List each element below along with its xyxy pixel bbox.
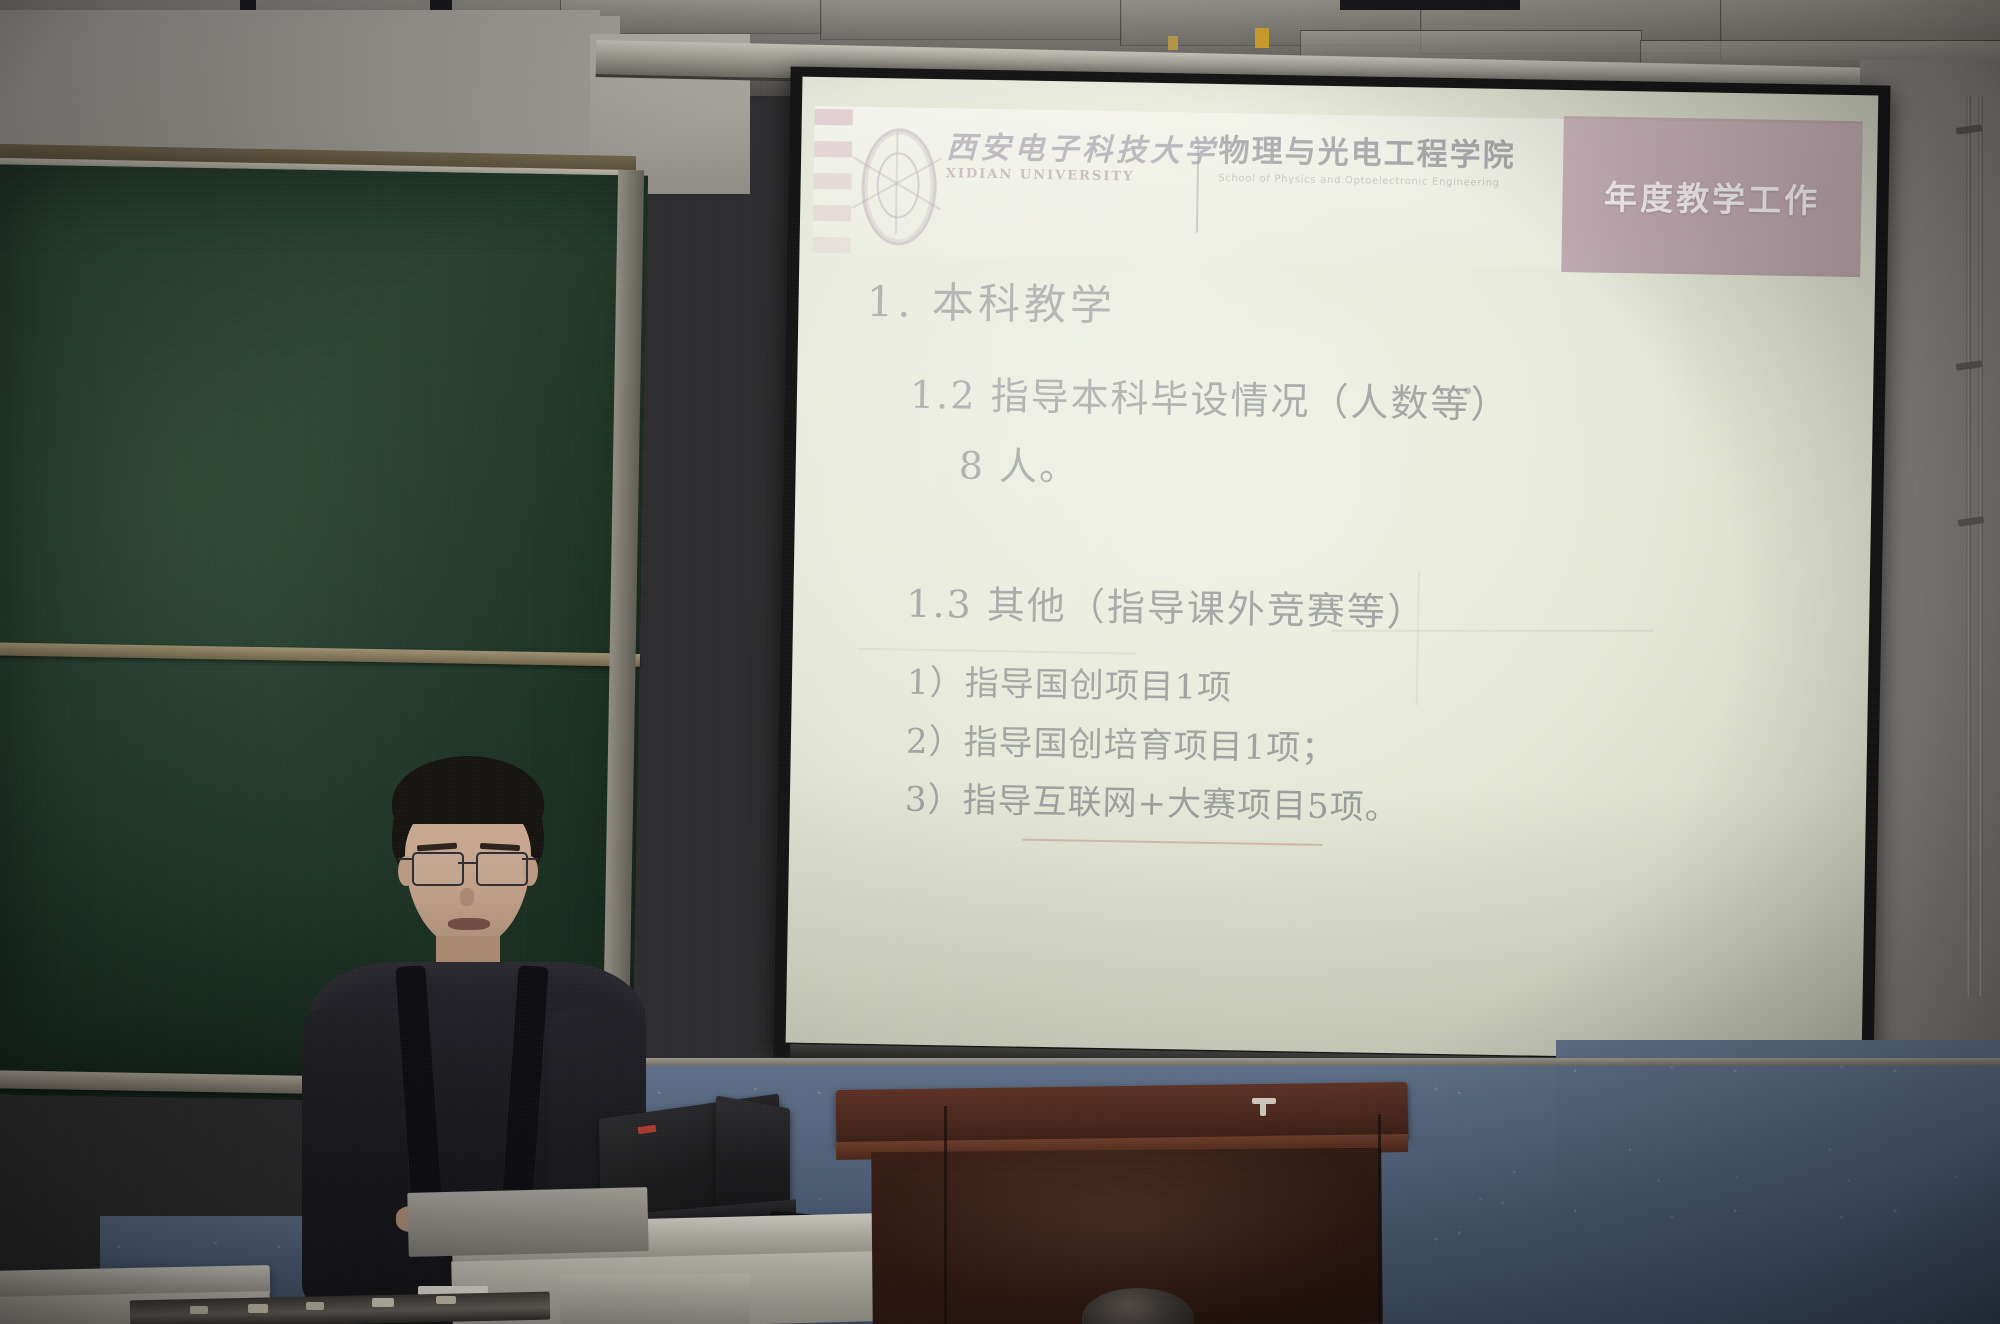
panel-port — [190, 1306, 208, 1314]
university-emblem-icon — [861, 128, 932, 240]
tick-mark — [813, 205, 851, 221]
wall-texture — [1556, 1040, 2000, 1324]
presenter-arm-left — [302, 1008, 398, 1308]
slide-list-item: 3）指导互联网+大赛项目5项。 — [905, 782, 1400, 828]
lectern-hardware — [1260, 1102, 1266, 1116]
blue-wainscot-wall-right — [1556, 1040, 2000, 1324]
panel-port — [306, 1302, 324, 1310]
slide-title-badge: 年度教学工作 — [1561, 116, 1862, 277]
college-name-cn: 物理与光电工程学院 — [1218, 135, 1575, 175]
presenter-hair-top — [392, 756, 544, 824]
wall-conduit-pipe — [1966, 96, 1971, 996]
slide-heading: 1. 本科教学 — [866, 278, 1116, 329]
screen-crease — [1331, 630, 1654, 632]
slide-header: 西安电子科技大学 XIDIAN UNIVERSITY 物理与光电工程学院 Sch… — [812, 106, 1862, 274]
av-equipment-riser — [407, 1187, 648, 1257]
slide-section-1-2: 1.2 指导本科毕设情况（人数等） — [910, 375, 1511, 427]
university-name-cn: 西安电子科技大学 — [946, 132, 1188, 168]
presenter-mouth — [448, 918, 490, 930]
slide-section-1-3: 1.3 其他（指导课外竞赛等） — [906, 584, 1427, 635]
tick-mark — [812, 237, 850, 253]
panel-port — [372, 1298, 394, 1307]
wainscot-cap-rail — [640, 1058, 2000, 1066]
tick-mark — [815, 109, 853, 125]
presenter-glasses-temple — [398, 858, 414, 860]
panel-port — [436, 1296, 456, 1304]
header-tick-marks — [812, 109, 852, 253]
lectern-seam — [1378, 1114, 1381, 1324]
presenter-glasses-temple — [522, 858, 538, 860]
tick-mark — [813, 173, 851, 189]
ceiling-gap — [1340, 0, 1520, 10]
college-name-block: 物理与光电工程学院 School of Physics and Optoelec… — [1218, 135, 1575, 190]
slide-title-text: 年度教学工作 — [1604, 171, 1821, 223]
roller-hook — [1168, 36, 1178, 50]
presenter-glasses-lens — [476, 852, 528, 886]
ceiling-tile — [820, 0, 1122, 40]
projection-screen[interactable]: 西安电子科技大学 XIDIAN UNIVERSITY 物理与光电工程学院 Sch… — [786, 77, 1879, 1062]
roller-hook — [1255, 28, 1269, 48]
slide-section-1-2-value: 8 人。 — [958, 445, 1079, 489]
av-desk-right-top — [560, 1274, 750, 1324]
presenter-glasses-lens — [412, 852, 464, 886]
slide-list-item: 2）指导国创培育项目1项； — [906, 723, 1337, 768]
tick-mark — [814, 141, 852, 157]
slide-list-item: 1）指导国创项目1项 — [907, 665, 1233, 708]
presenter-glasses-bridge — [458, 862, 478, 864]
lecture-hall-photo: 西安电子科技大学 XIDIAN UNIVERSITY 物理与光电工程学院 Sch… — [0, 0, 2000, 1324]
wall-conduit-pipe — [1978, 96, 1983, 996]
red-underline-annotation — [1022, 839, 1322, 846]
presenter-nose — [460, 888, 474, 906]
panel-port — [248, 1304, 268, 1313]
university-name-block: 西安电子科技大学 XIDIAN UNIVERSITY — [946, 132, 1188, 186]
slide-body: 1. 本科教学 1.2 指导本科毕设情况（人数等） 8 人。 1.3 其他（指导… — [829, 271, 1842, 1023]
presentation-slide: 西安电子科技大学 XIDIAN UNIVERSITY 物理与光电工程学院 Sch… — [786, 77, 1879, 1062]
lectern-seam — [944, 1106, 947, 1324]
